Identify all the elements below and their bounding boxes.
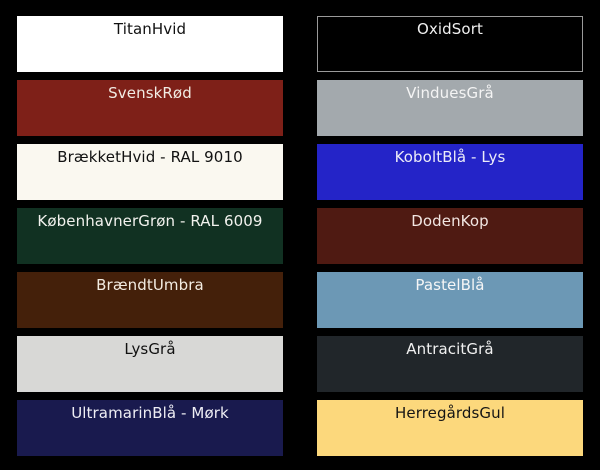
color-swatch-label: AntracitGrå — [317, 336, 583, 357]
color-swatch-label: DodenKop — [317, 208, 583, 229]
color-swatch-vinduesgrå[interactable]: VinduesGrå — [317, 80, 583, 136]
color-swatch-label: PastelBlå — [317, 272, 583, 293]
color-swatch-label: KoboltBlå - Lys — [317, 144, 583, 165]
color-swatch-label: LysGrå — [17, 336, 283, 357]
color-swatch-ultramarinblå-mørk[interactable]: UltramarinBlå - Mørk — [17, 400, 283, 456]
color-swatch-label: TitanHvid — [17, 16, 283, 37]
color-swatch-svenskrød[interactable]: SvenskRød — [17, 80, 283, 136]
color-swatch-label: SvenskRød — [17, 80, 283, 101]
color-swatch-lysgrå[interactable]: LysGrå — [17, 336, 283, 392]
color-swatch-brækkethvid-ral-9010[interactable]: BrækketHvid - RAL 9010 — [17, 144, 283, 200]
color-swatch-label: VinduesGrå — [317, 80, 583, 101]
color-swatch-label: OxidSort — [318, 17, 582, 37]
color-swatch-label: UltramarinBlå - Mørk — [17, 400, 283, 421]
color-swatch-koboltblå-lys[interactable]: KoboltBlå - Lys — [317, 144, 583, 200]
color-swatch-label: KøbenhavnerGrøn - RAL 6009 — [17, 208, 283, 229]
color-swatch-antracitgrå[interactable]: AntracitGrå — [317, 336, 583, 392]
color-swatch-oxidsort[interactable]: OxidSort — [317, 16, 583, 72]
color-swatch-label: BrændtUmbra — [17, 272, 283, 293]
color-swatch-herregårdsgul[interactable]: HerregårdsGul — [317, 400, 583, 456]
color-swatch-brændtumbra[interactable]: BrændtUmbra — [17, 272, 283, 328]
color-swatch-label: HerregårdsGul — [317, 400, 583, 421]
color-swatch-label: BrækketHvid - RAL 9010 — [17, 144, 283, 165]
color-palette-grid: TitanHvidOxidSortSvenskRødVinduesGråBræk… — [0, 0, 600, 470]
color-swatch-titanhvid[interactable]: TitanHvid — [17, 16, 283, 72]
color-swatch-pastelblå[interactable]: PastelBlå — [317, 272, 583, 328]
color-swatch-københavnergrøn-ral-6009[interactable]: KøbenhavnerGrøn - RAL 6009 — [17, 208, 283, 264]
color-swatch-dodenkop[interactable]: DodenKop — [317, 208, 583, 264]
